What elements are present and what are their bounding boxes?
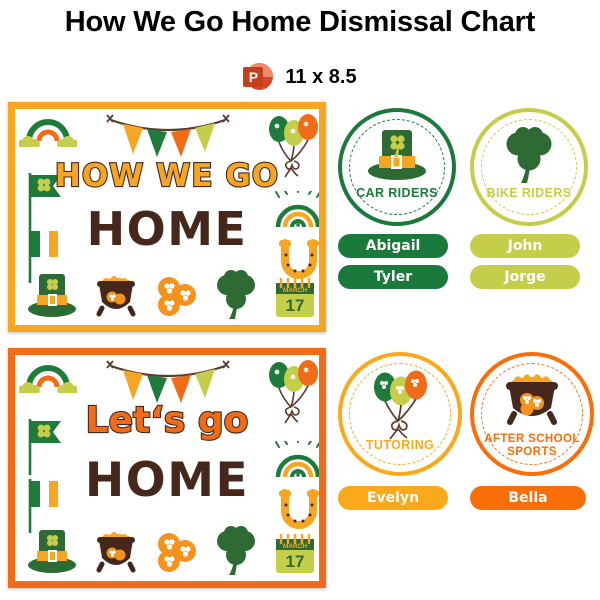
name-pill-abigail[interactable]: Abigail bbox=[338, 234, 448, 258]
name-pill-jorge[interactable]: Jorge bbox=[470, 265, 580, 289]
leprechaun-hat-icon bbox=[27, 269, 77, 319]
badge-tutoring[interactable]: TUTORING bbox=[338, 352, 462, 476]
badge-art bbox=[342, 127, 452, 183]
slide-1-line-1: HOW WE GO bbox=[15, 161, 319, 192]
badge-label-bike-riders: BIKE RIDERS bbox=[474, 187, 584, 223]
category-car-riders: CAR RIDERS Abigail Tyler bbox=[338, 108, 458, 289]
bunting-flags-icon bbox=[103, 112, 233, 160]
page-title: How We Go Home Dismissal Chart bbox=[0, 6, 600, 39]
shamrock-icon bbox=[211, 525, 261, 577]
powerpoint-icon: P bbox=[243, 62, 273, 92]
calendar-month: MARCH bbox=[283, 287, 307, 294]
pot-of-gold-icon bbox=[93, 272, 139, 318]
slide-how-we-go-home[interactable]: MARCH 17 HOW WE GO HOME bbox=[8, 102, 326, 332]
name-pill-evelyn[interactable]: Evelyn bbox=[338, 486, 448, 510]
badge-label-after-school-sports: AFTER SCHOOL SPORTS bbox=[474, 433, 590, 472]
rainbow-clover-icon bbox=[19, 357, 77, 393]
badge-art bbox=[474, 371, 590, 427]
slide-1-line-2: HOME bbox=[15, 206, 319, 252]
badge-label-line-2: SPORTS bbox=[474, 446, 590, 458]
slide-dimensions: 11 x 8.5 bbox=[285, 66, 356, 89]
badge-label-car-riders: CAR RIDERS bbox=[342, 187, 452, 223]
slide-lets-go-home[interactable]: MARCH 17 Let‘s go HOME bbox=[8, 348, 326, 588]
calendar-icon: MARCH 17 bbox=[271, 277, 319, 321]
category-tutoring: TUTORING Evelyn bbox=[338, 352, 458, 510]
calendar-month: MARCH bbox=[283, 543, 307, 550]
leprechaun-hat-icon bbox=[27, 525, 77, 575]
slide-2-line-2: HOME bbox=[15, 457, 319, 504]
slide-2-line-1: Let‘s go bbox=[15, 403, 319, 439]
gold-coins-icon bbox=[149, 531, 201, 575]
balloons-icon bbox=[369, 369, 431, 441]
badge-after-school-sports[interactable]: AFTER SCHOOL SPORTS bbox=[470, 352, 594, 476]
slide-1-canvas: MARCH 17 HOW WE GO HOME bbox=[15, 109, 319, 325]
name-pill-tyler[interactable]: Tyler bbox=[338, 265, 448, 289]
rainbow-clover-icon bbox=[19, 111, 77, 147]
gold-coins-icon bbox=[149, 275, 201, 319]
badge-label-tutoring: TUTORING bbox=[342, 439, 458, 473]
calendar-day: 17 bbox=[286, 296, 305, 315]
calendar-day: 17 bbox=[286, 552, 305, 571]
badge-label-line-1: AFTER SCHOOL bbox=[474, 433, 590, 445]
name-pill-bella[interactable]: Bella bbox=[470, 486, 586, 510]
pot-of-gold-icon bbox=[501, 371, 563, 427]
file-meta-row: P 11 x 8.5 bbox=[0, 62, 600, 92]
dismissal-chart-page: How We Go Home Dismissal Chart P 11 x 8.… bbox=[0, 0, 600, 600]
shamrock-icon bbox=[211, 269, 261, 321]
shamrock-icon bbox=[501, 125, 557, 185]
category-after-school-sports: AFTER SCHOOL SPORTS Bella bbox=[470, 352, 594, 510]
pot-of-gold-icon bbox=[93, 528, 139, 574]
leprechaun-hat-icon bbox=[366, 127, 428, 183]
slide-2-canvas: MARCH 17 Let‘s go HOME bbox=[15, 355, 319, 581]
badge-car-riders[interactable]: CAR RIDERS bbox=[338, 108, 456, 226]
bunting-flags-icon bbox=[103, 358, 233, 406]
badge-bike-riders[interactable]: BIKE RIDERS bbox=[470, 108, 588, 226]
name-pill-john[interactable]: John bbox=[470, 234, 580, 258]
calendar-icon: MARCH 17 bbox=[271, 533, 319, 577]
category-bike-riders: BIKE RIDERS John Jorge bbox=[470, 108, 590, 289]
ppt-letter: P bbox=[243, 67, 263, 87]
badge-art bbox=[342, 369, 458, 441]
badge-art bbox=[474, 125, 584, 185]
